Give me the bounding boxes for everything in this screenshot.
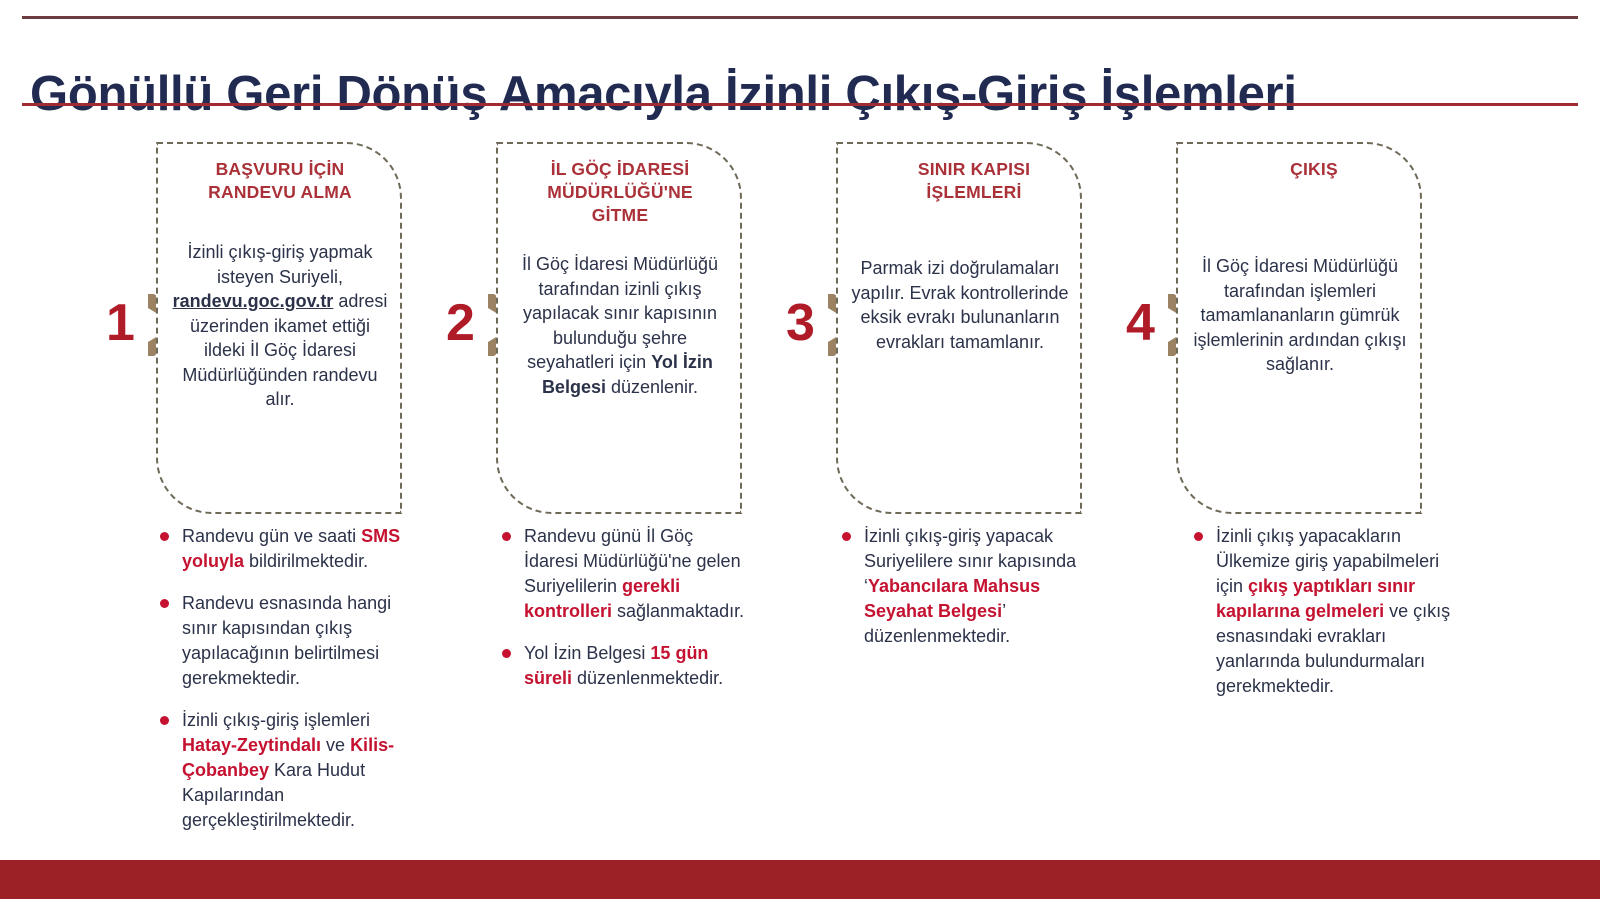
process-step-2: 2 İL GÖÇ İDARESİMÜDÜRLÜĞÜ'NEGİTME İl Göç… — [440, 120, 786, 860]
step-body-4: İl Göç İdaresi Müdürlüğü tarafından işle… — [1190, 254, 1410, 377]
list-item-text: Randevu gün ve saati SMS yoluyla bildiri… — [182, 526, 400, 571]
appointment-url-link[interactable]: randevu.goc.gov.tr — [173, 291, 334, 311]
list-item-text-run-1: Yabancılara Mahsus Seyahat Belgesi — [864, 576, 1040, 621]
step-number-3: 3 — [786, 287, 815, 359]
step-number-1: 1 — [106, 287, 135, 359]
step-card-3: SINIR KAPISIİŞLEMLERİ Parmak izi doğrula… — [836, 142, 1082, 514]
list-item-text-run-2: ve — [321, 735, 350, 755]
step-heading-1: BAŞVURU İÇİNRANDEVU ALMA — [174, 158, 386, 204]
bullet-dot-icon — [1194, 532, 1203, 541]
bullet-dot-icon — [842, 532, 851, 541]
step-heading-2: İL GÖÇ İDARESİMÜDÜRLÜĞÜ'NEGİTME — [514, 158, 726, 227]
list-item-text-run-2: düzenlenmektedir. — [572, 668, 723, 688]
list-item-text: Randevu esnasında hangi sınır kapısından… — [182, 593, 391, 688]
list-item-text-run-0: Randevu gün ve saati — [182, 526, 361, 546]
header-rule-bottom — [22, 103, 1578, 106]
list-item-text: İzinli çıkış-giriş işlemleri Hatay-Zeyti… — [182, 710, 394, 830]
list-item-text: İzinli çıkış-giriş yapacak Suriyelilere … — [864, 526, 1076, 646]
page-title: Gönüllü Geri Dönüş Amacıyla İzinli Çıkış… — [30, 63, 1297, 125]
page-header: Gönüllü Geri Dönüş Amacıyla İzinli Çıkış… — [0, 0, 1600, 112]
step-heading-4: ÇIKIŞ — [1194, 158, 1406, 181]
list-item: İzinli çıkış yapacakların Ülkemize giriş… — [1190, 524, 1458, 699]
list-item-text-run-0: Yol İzin Belgesi — [524, 643, 650, 663]
bullet-dot-icon — [160, 716, 169, 725]
step-bullets-4: İzinli çıkış yapacakların Ülkemize giriş… — [1190, 524, 1458, 699]
step-body-2-run-2: düzenlenir. — [606, 377, 698, 397]
bullet-dot-icon — [502, 649, 511, 658]
list-item-text: Randevu günü İl Göç İdaresi Müdürlüğü'ne… — [524, 526, 744, 621]
list-item: Randevu esnasında hangi sınır kapısından… — [156, 591, 414, 691]
step-body-4-run-0: İl Göç İdaresi Müdürlüğü tarafından işle… — [1193, 256, 1406, 374]
step-number-2: 2 — [446, 287, 475, 359]
list-item-text: İzinli çıkış yapacakların Ülkemize giriş… — [1216, 526, 1450, 696]
list-item-text-run-0: İzinli çıkış-giriş işlemleri — [182, 710, 370, 730]
process-step-3: 3 SINIR KAPISIİŞLEMLERİ Parmak izi doğru… — [780, 120, 1126, 860]
step-card-1: BAŞVURU İÇİNRANDEVU ALMA İzinli çıkış-gi… — [156, 142, 402, 514]
step-number-4: 4 — [1126, 287, 1155, 359]
list-item-text-run-1: Hatay-Zeytindalı — [182, 735, 321, 755]
list-item: Randevu gün ve saati SMS yoluyla bildiri… — [156, 524, 414, 574]
list-item: Randevu günü İl Göç İdaresi Müdürlüğü'ne… — [498, 524, 748, 624]
list-item: İzinli çıkış-giriş işlemleri Hatay-Zeyti… — [156, 708, 414, 833]
step-body-3: Parmak izi doğrulamaları yapılır. Evrak … — [850, 256, 1070, 354]
step-body-1: İzinli çıkış-giriş yapmak isteyen Suriye… — [170, 240, 390, 412]
step-bullets-2: Randevu günü İl Göç İdaresi Müdürlüğü'ne… — [498, 524, 748, 691]
list-item-text-run-2: sağlanmaktadır. — [612, 601, 744, 621]
list-item-text-run-2: bildirilmektedir. — [244, 551, 368, 571]
process-step-4: 4 ÇIKIŞ İl Göç İdaresi Müdürlüğü tarafın… — [1120, 120, 1466, 860]
list-item-text: Yol İzin Belgesi 15 gün süreli düzenlenm… — [524, 643, 723, 688]
step-body-2: İl Göç İdaresi Müdürlüğü tarafından izin… — [510, 252, 730, 399]
step-bullets-1: Randevu gün ve saati SMS yoluyla bildiri… — [156, 524, 414, 833]
step-card-2: İL GÖÇ İDARESİMÜDÜRLÜĞÜ'NEGİTME İl Göç İ… — [496, 142, 742, 514]
list-item: İzinli çıkış-giriş yapacak Suriyelilere … — [838, 524, 1086, 649]
process-step-1: 1 BAŞVURU İÇİNRANDEVU ALMA İzinli çıkış-… — [100, 120, 446, 860]
bullet-dot-icon — [502, 532, 511, 541]
step-body-3-run-0: Parmak izi doğrulamaları yapılır. Evrak … — [851, 258, 1068, 352]
step-body-1-run-0: İzinli çıkış-giriş yapmak isteyen Suriye… — [187, 242, 372, 287]
list-item: Yol İzin Belgesi 15 gün süreli düzenlenm… — [498, 641, 748, 691]
step-bullets-3: İzinli çıkış-giriş yapacak Suriyelilere … — [838, 524, 1086, 649]
footer-band — [0, 860, 1600, 899]
step-heading-3: SINIR KAPISIİŞLEMLERİ — [854, 158, 1066, 204]
bullet-dot-icon — [160, 599, 169, 608]
bullet-dot-icon — [160, 532, 169, 541]
header-rule-top — [22, 16, 1578, 19]
process-flow: 1 BAŞVURU İÇİNRANDEVU ALMA İzinli çıkış-… — [0, 120, 1600, 860]
list-item-text-run-0: Randevu esnasında hangi sınır kapısından… — [182, 593, 391, 688]
step-card-4: ÇIKIŞ İl Göç İdaresi Müdürlüğü tarafında… — [1176, 142, 1422, 514]
